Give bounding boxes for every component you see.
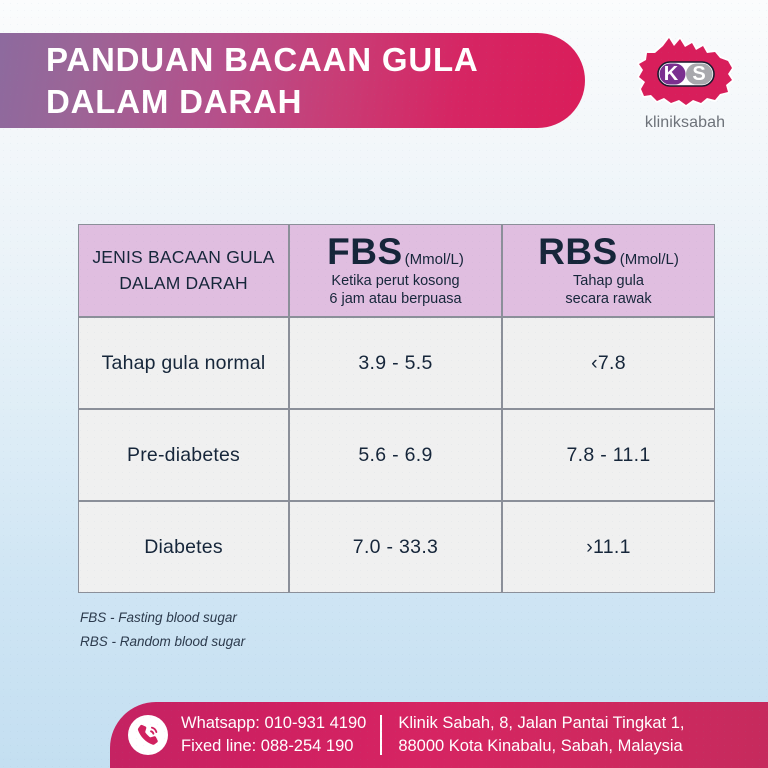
header-rbs-sub-line-2: secara rawak: [565, 290, 651, 308]
header-cell-rbs: RBS (Mmol/L) Tahap gula secara rawak: [502, 224, 715, 317]
cell-fbs-value: 3.9 - 5.5: [289, 317, 502, 409]
cell-category-name: Diabetes: [78, 501, 289, 593]
rbs-value: ‹7.8: [591, 352, 626, 375]
infographic-poster: PANDUAN BACAAN GULA DALAM DARAH K S klin…: [0, 0, 768, 768]
fbs-value: 7.0 - 33.3: [353, 536, 438, 559]
fbs-value: 5.6 - 6.9: [358, 444, 432, 467]
header-rbs-sub-line-1: Tahap gula: [573, 272, 644, 290]
header-fbs-sub-line-2: 6 jam atau berpuasa: [329, 290, 461, 308]
rbs-value: 7.8 - 11.1: [567, 444, 651, 467]
category-label: Pre-diabetes: [127, 444, 240, 467]
sabah-map-logo-icon: K S: [633, 34, 737, 112]
footer-divider: [380, 715, 382, 755]
svg-text:K: K: [664, 63, 679, 85]
table-row: Diabetes 7.0 - 33.3 ›11.1: [78, 501, 715, 593]
contact-address-block: Klinik Sabah, 8, Jalan Pantai Tingkat 1,…: [398, 712, 684, 759]
page-title-line-1: PANDUAN BACAAN GULA: [46, 39, 545, 80]
table-footnotes: FBS - Fasting blood sugar RBS - Random b…: [80, 606, 245, 653]
category-label: Tahap gula normal: [102, 352, 266, 375]
header-rbs-abbr: RBS: [538, 233, 618, 270]
svg-text:S: S: [692, 63, 705, 85]
header-fbs-sub-line-1: Ketika perut kosong: [331, 272, 459, 290]
header-label-line-1: JENIS BACAAN GULA: [92, 245, 274, 270]
cell-fbs-value: 7.0 - 33.3: [289, 501, 502, 593]
page-title-line-2: DALAM DARAH: [46, 81, 545, 122]
header-cell-fbs: FBS (Mmol/L) Ketika perut kosong 6 jam a…: [289, 224, 502, 317]
table-row: Pre-diabetes 5.6 - 6.9 7.8 - 11.1: [78, 409, 715, 501]
category-label: Diabetes: [144, 536, 223, 559]
fixed-line-number: Fixed line: 088-254 190: [181, 735, 366, 758]
cell-fbs-value: 5.6 - 6.9: [289, 409, 502, 501]
header-fbs-unit: (Mmol/L): [405, 252, 464, 267]
contact-footer-bar: Whatsapp: 010-931 4190 Fixed line: 088-2…: [110, 702, 768, 768]
footnote-fbs: FBS - Fasting blood sugar: [80, 606, 245, 630]
rbs-value: ›11.1: [586, 536, 631, 559]
address-line-2: 88000 Kota Kinabalu, Sabah, Malaysia: [398, 735, 684, 758]
footnote-rbs: RBS - Random blood sugar: [80, 630, 245, 654]
table-row: Tahap gula normal 3.9 - 5.5 ‹7.8: [78, 317, 715, 409]
address-line-1: Klinik Sabah, 8, Jalan Pantai Tingkat 1,: [398, 712, 684, 735]
cell-rbs-value: ›11.1: [502, 501, 715, 593]
cell-rbs-value: ‹7.8: [502, 317, 715, 409]
cell-category-name: Tahap gula normal: [78, 317, 289, 409]
header-fbs-abbr: FBS: [327, 233, 403, 270]
phone-icon: [128, 715, 168, 755]
brand-wordmark: kliniksabah: [645, 114, 725, 132]
blood-sugar-table: JENIS BACAAN GULA DALAM DARAH FBS (Mmol/…: [78, 224, 715, 593]
table-header-row: JENIS BACAAN GULA DALAM DARAH FBS (Mmol/…: [78, 224, 715, 317]
brand-logo: K S kliniksabah: [627, 34, 743, 144]
contact-phone-block: Whatsapp: 010-931 4190 Fixed line: 088-2…: [181, 712, 366, 759]
cell-category-name: Pre-diabetes: [78, 409, 289, 501]
title-banner: PANDUAN BACAAN GULA DALAM DARAH: [0, 33, 585, 128]
fbs-value: 3.9 - 5.5: [358, 352, 432, 375]
header-cell-reading-type: JENIS BACAAN GULA DALAM DARAH: [78, 224, 289, 317]
header-label-line-2: DALAM DARAH: [119, 271, 248, 296]
header-rbs-unit: (Mmol/L): [620, 252, 679, 267]
whatsapp-number: Whatsapp: 010-931 4190: [181, 712, 366, 735]
cell-rbs-value: 7.8 - 11.1: [502, 409, 715, 501]
